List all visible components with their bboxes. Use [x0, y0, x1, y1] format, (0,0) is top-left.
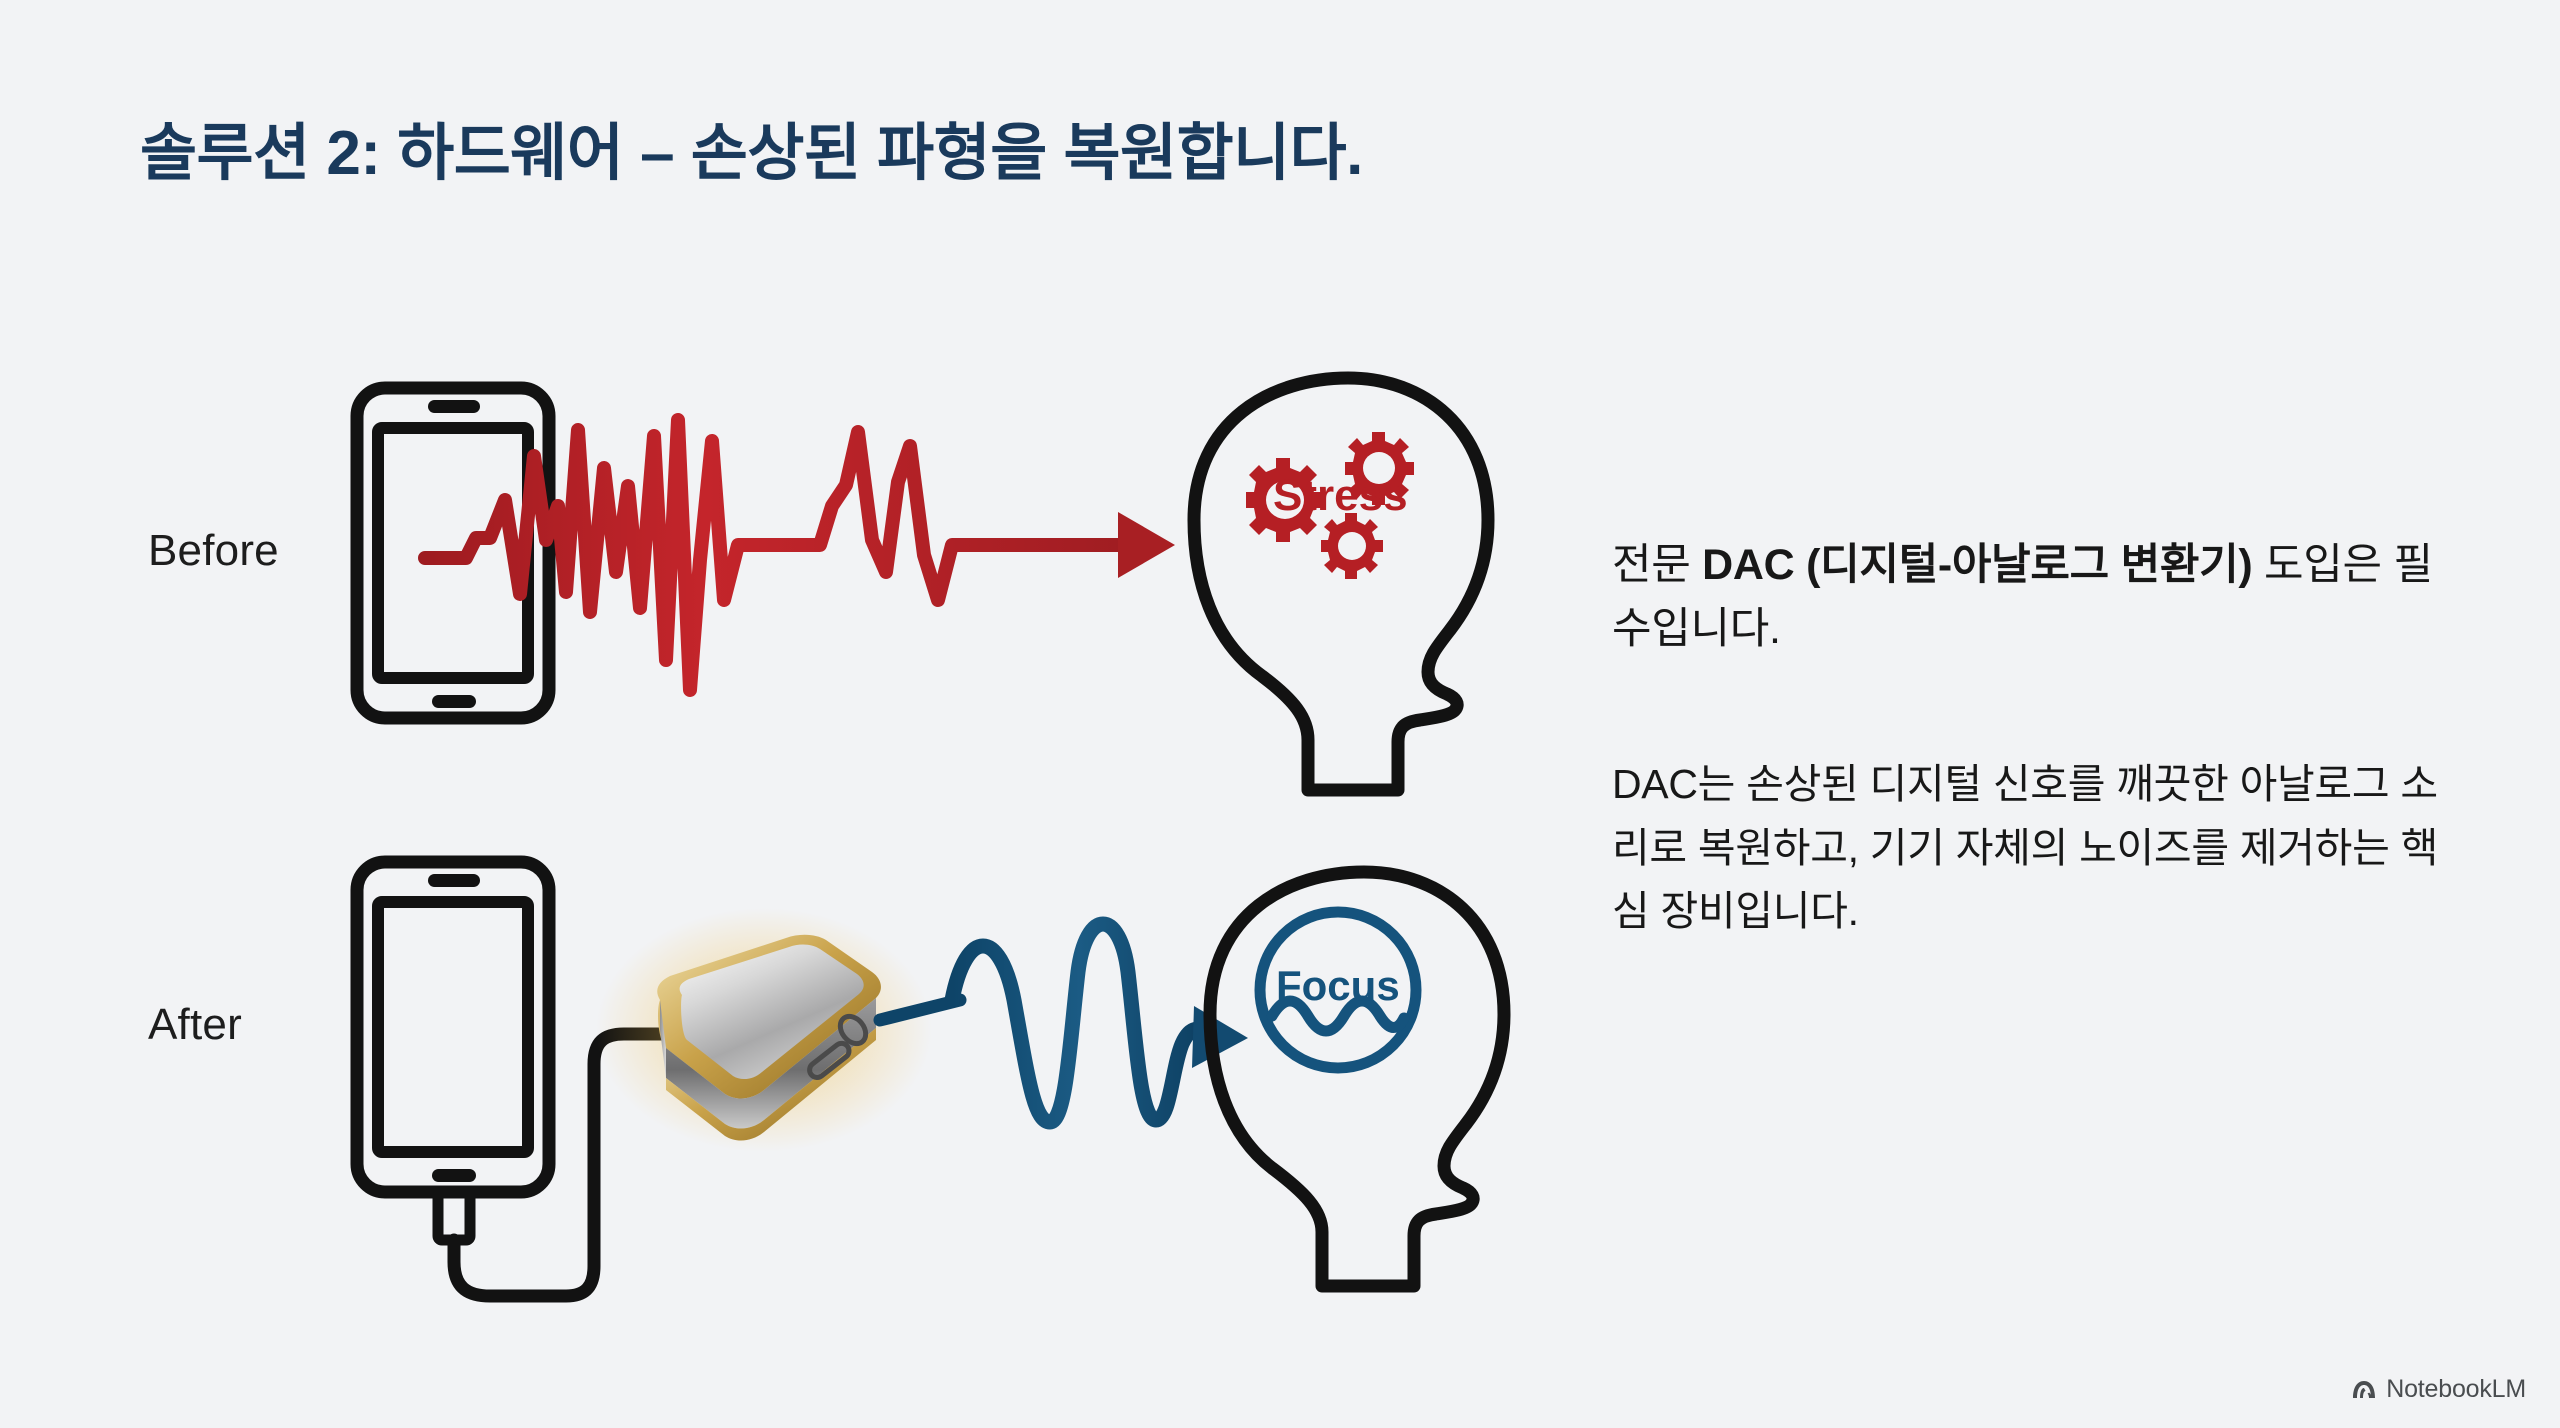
lead-paragraph: 전문 DAC (디지털-아날로그 변환기) 도입은 필수입니다.: [1612, 534, 2452, 661]
lead-strong: DAC (디지털-아날로그 변환기): [1702, 541, 2252, 589]
brain-badge-label-focus: Focus: [1276, 962, 1400, 1009]
body-paragraph: DAC는 손상된 디지털 신호를 깨끗한 아날로그 소리로 복원하고, 기기 자…: [1612, 753, 2452, 944]
watermark-label: NotebookLM: [2386, 1377, 2526, 1402]
after-row-graphic: Focus: [357, 862, 1504, 1296]
lead-prefix: 전문: [1612, 541, 1702, 589]
text-column: 전문 DAC (디지털-아날로그 변환기) 도입은 필수입니다. DAC는 손상…: [1612, 534, 2452, 944]
before-row-graphic: Stress: [357, 378, 1488, 790]
smooth-sine-wave-arrow-icon: [952, 924, 1248, 1122]
jagged-waveform-arrow-icon: [425, 420, 1175, 690]
notebooklm-watermark: NotebookLM: [2351, 1377, 2526, 1402]
notebooklm-logo-icon: [2351, 1379, 2377, 1401]
head-profile-icon: [1194, 378, 1488, 790]
brain-badge-label-stress: Stress: [1273, 471, 1408, 520]
head-profile-icon: [1210, 872, 1504, 1286]
slide-canvas: 솔루션 2: 하드웨어 – 손상된 파형을 복원합니다. Before Afte…: [0, 0, 2560, 1428]
